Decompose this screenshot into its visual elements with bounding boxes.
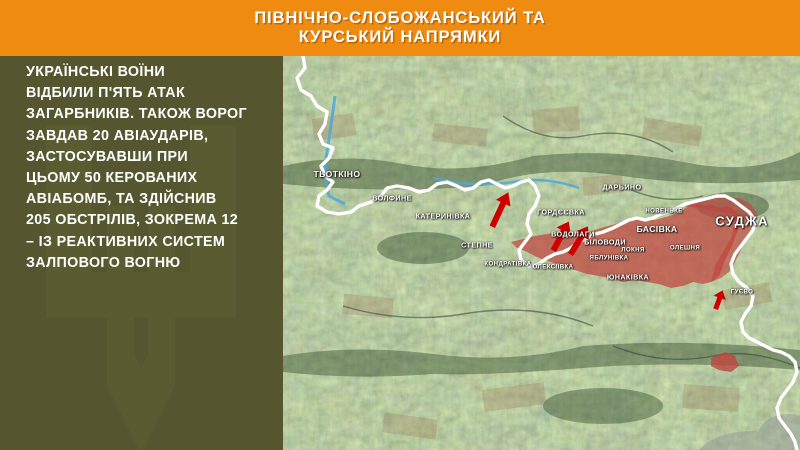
summary-line: УКРАЇНСЬКІ ВОЇНИ bbox=[26, 62, 269, 83]
infographic-root: ПІВНІЧНО-СЛОБОЖАНСЬКИЙ ТА КУРСЬКИЙ НАПРЯ… bbox=[0, 0, 800, 450]
header-title-line-1: ПІВНІЧНО-СЛОБОЖАНСЬКИЙ ТА bbox=[254, 9, 545, 28]
summary-text-block: УКРАЇНСЬКІ ВОЇНИ ВІДБИЛИ П'ЯТЬ АТАК ЗАГА… bbox=[0, 56, 283, 274]
summary-line: ЦЬОМУ 50 КЕРОВАНИХ bbox=[26, 168, 269, 189]
summary-line: ЗАГАРБНИКІВ. ТАКОЖ ВОРОГ bbox=[26, 104, 269, 125]
summary-line: – ІЗ РЕАКТИВНИХ СИСТЕМ bbox=[26, 232, 269, 253]
summary-line: ЗАСТОСУВАВШИ ПРИ bbox=[26, 147, 269, 168]
satellite-map[interactable]: СУДЖА ТЬОТКІНО ВОЛФИНЕ КАТЕРИНІВКА СТЕПН… bbox=[283, 56, 800, 450]
summary-line: ВІДБИЛИ П'ЯТЬ АТАК bbox=[26, 83, 269, 104]
summary-panel: УКРАЇНСЬКІ ВОЇНИ ВІДБИЛИ П'ЯТЬ АТАК ЗАГА… bbox=[0, 56, 283, 450]
header-banner: ПІВНІЧНО-СЛОБОЖАНСЬКИЙ ТА КУРСЬКИЙ НАПРЯ… bbox=[0, 0, 800, 56]
header-title-line-2: КУРСЬКИЙ НАПРЯМКИ bbox=[299, 28, 501, 47]
summary-line: АВІАБОМБ, ТА ЗДІЙСНИВ bbox=[26, 189, 269, 210]
summary-line: ЗАЛПОВОГО ВОГНЮ bbox=[26, 253, 269, 274]
summary-line: ЗАВДАВ 20 АВІАУДАРІВ, bbox=[26, 126, 269, 147]
map-canvas bbox=[283, 56, 800, 450]
summary-line: 205 ОБСТРІЛІВ, ЗОКРЕМА 12 bbox=[26, 210, 269, 231]
